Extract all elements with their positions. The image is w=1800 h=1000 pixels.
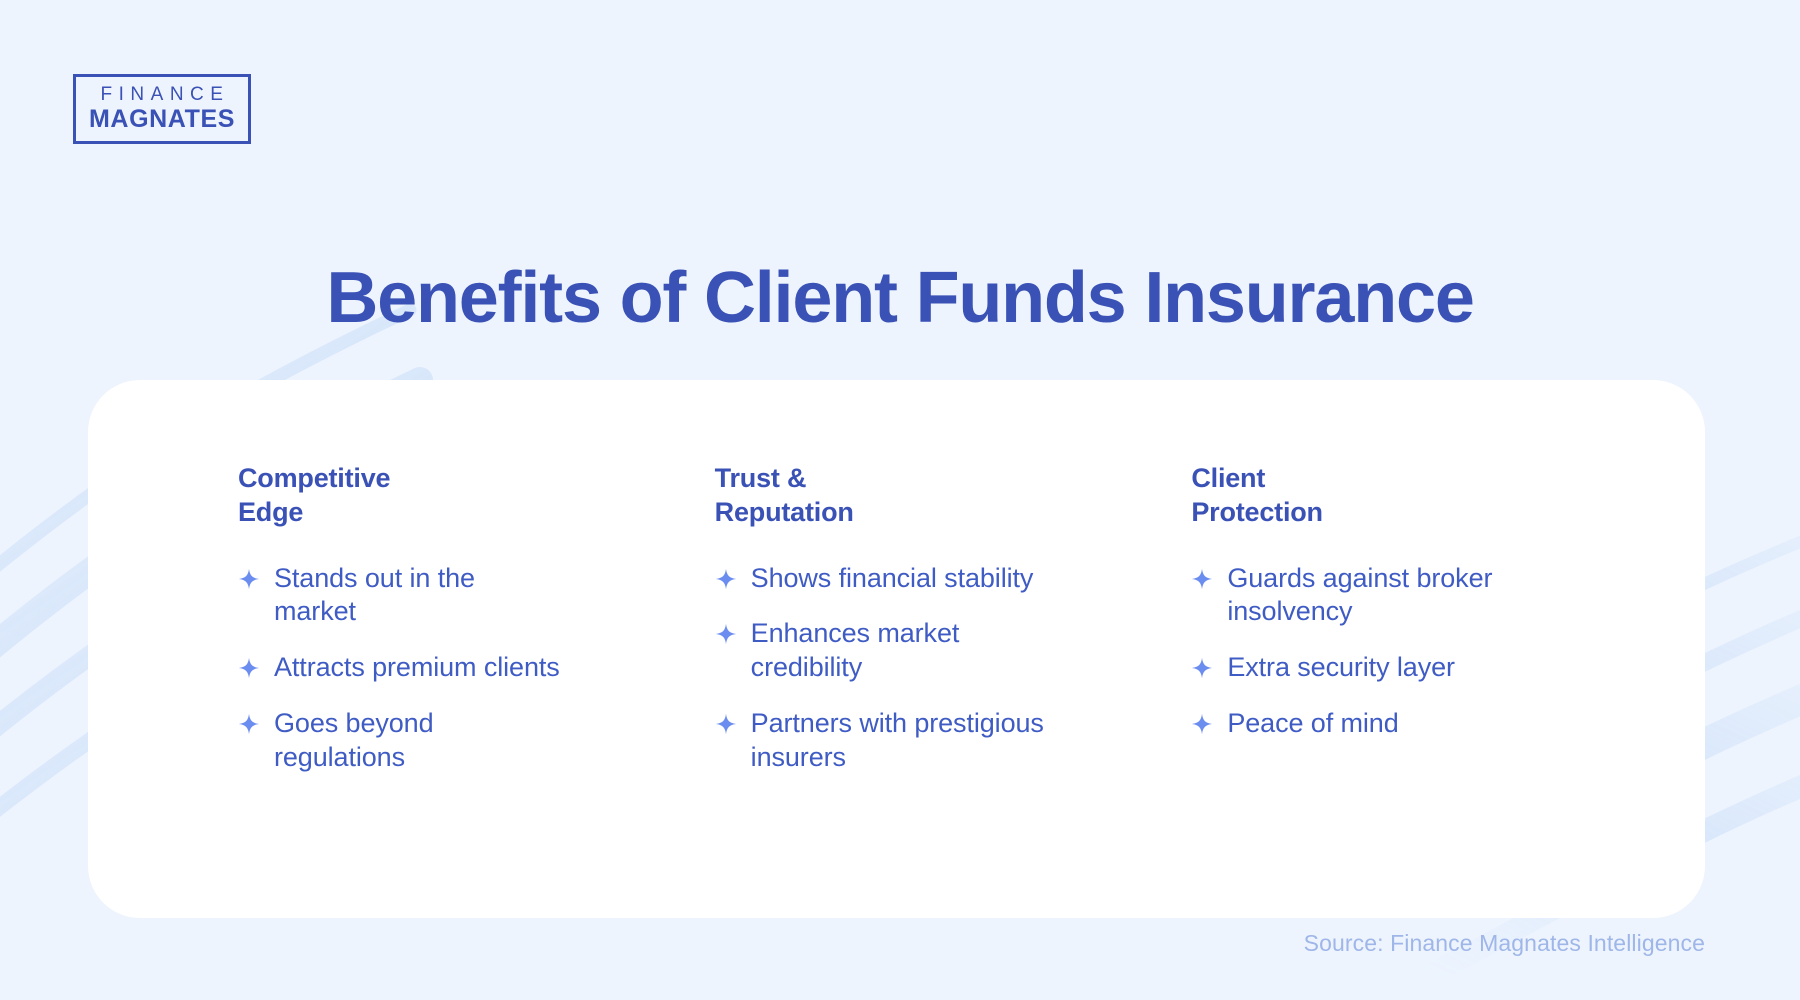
source-attribution: Source: Finance Magnates Intelligence [1304, 930, 1705, 957]
sparkle-icon [1191, 713, 1213, 735]
list-item: Shows financial stability [715, 562, 1172, 596]
sparkle-icon [238, 657, 260, 679]
list-item: Peace of mind [1191, 707, 1648, 741]
list-item-label: Enhances market credibility [751, 617, 1071, 685]
list-item-label: Partners with prestigious insurers [751, 707, 1071, 775]
sparkle-icon [715, 623, 737, 645]
sparkle-icon [1191, 657, 1213, 679]
list-item: Goes beyond regulations [238, 707, 695, 775]
content-card: Competitive Edge Stands out in the marke… [88, 380, 1705, 918]
sparkle-icon [1191, 568, 1213, 590]
infographic-canvas: FINANCE MAGNATES Benefits of Client Fund… [0, 0, 1800, 1000]
sparkle-icon [715, 568, 737, 590]
list-item: Attracts premium clients [238, 651, 695, 685]
page-title: Benefits of Client Funds Insurance [0, 261, 1800, 336]
sparkle-icon [238, 568, 260, 590]
list-item: Stands out in the market [238, 562, 695, 630]
benefit-column-client-protection: Client Protection Guards against broker … [1191, 461, 1668, 774]
benefit-list: Guards against broker insolvency Extra s… [1191, 562, 1648, 741]
benefit-column-trust-reputation: Trust & Reputation Shows financial stabi… [715, 461, 1192, 774]
list-item: Guards against broker insolvency [1191, 562, 1648, 630]
list-item-label: Extra security layer [1227, 651, 1455, 685]
sparkle-icon [715, 713, 737, 735]
logo-text-magnates: MAGNATES [89, 105, 235, 133]
column-heading: Trust & Reputation [715, 461, 1172, 530]
list-item-label: Attracts premium clients [274, 651, 560, 685]
benefit-list: Stands out in the market Attracts premiu… [238, 562, 695, 775]
benefit-column-competitive-edge: Competitive Edge Stands out in the marke… [238, 461, 715, 774]
column-heading: Competitive Edge [238, 461, 695, 530]
list-item: Enhances market credibility [715, 617, 1172, 685]
list-item-label: Peace of mind [1227, 707, 1398, 741]
finance-magnates-logo: FINANCE MAGNATES [73, 74, 251, 144]
list-item-label: Guards against broker insolvency [1227, 562, 1587, 630]
list-item-label: Shows financial stability [751, 562, 1034, 596]
column-heading: Client Protection [1191, 461, 1648, 530]
list-item-label: Goes beyond regulations [274, 707, 564, 775]
logo-text-finance: FINANCE [95, 85, 230, 105]
benefit-columns: Competitive Edge Stands out in the marke… [238, 461, 1668, 774]
benefit-list: Shows financial stability Enhances marke… [715, 562, 1172, 775]
sparkle-icon [238, 713, 260, 735]
list-item: Partners with prestigious insurers [715, 707, 1172, 775]
list-item: Extra security layer [1191, 651, 1648, 685]
list-item-label: Stands out in the market [274, 562, 564, 630]
